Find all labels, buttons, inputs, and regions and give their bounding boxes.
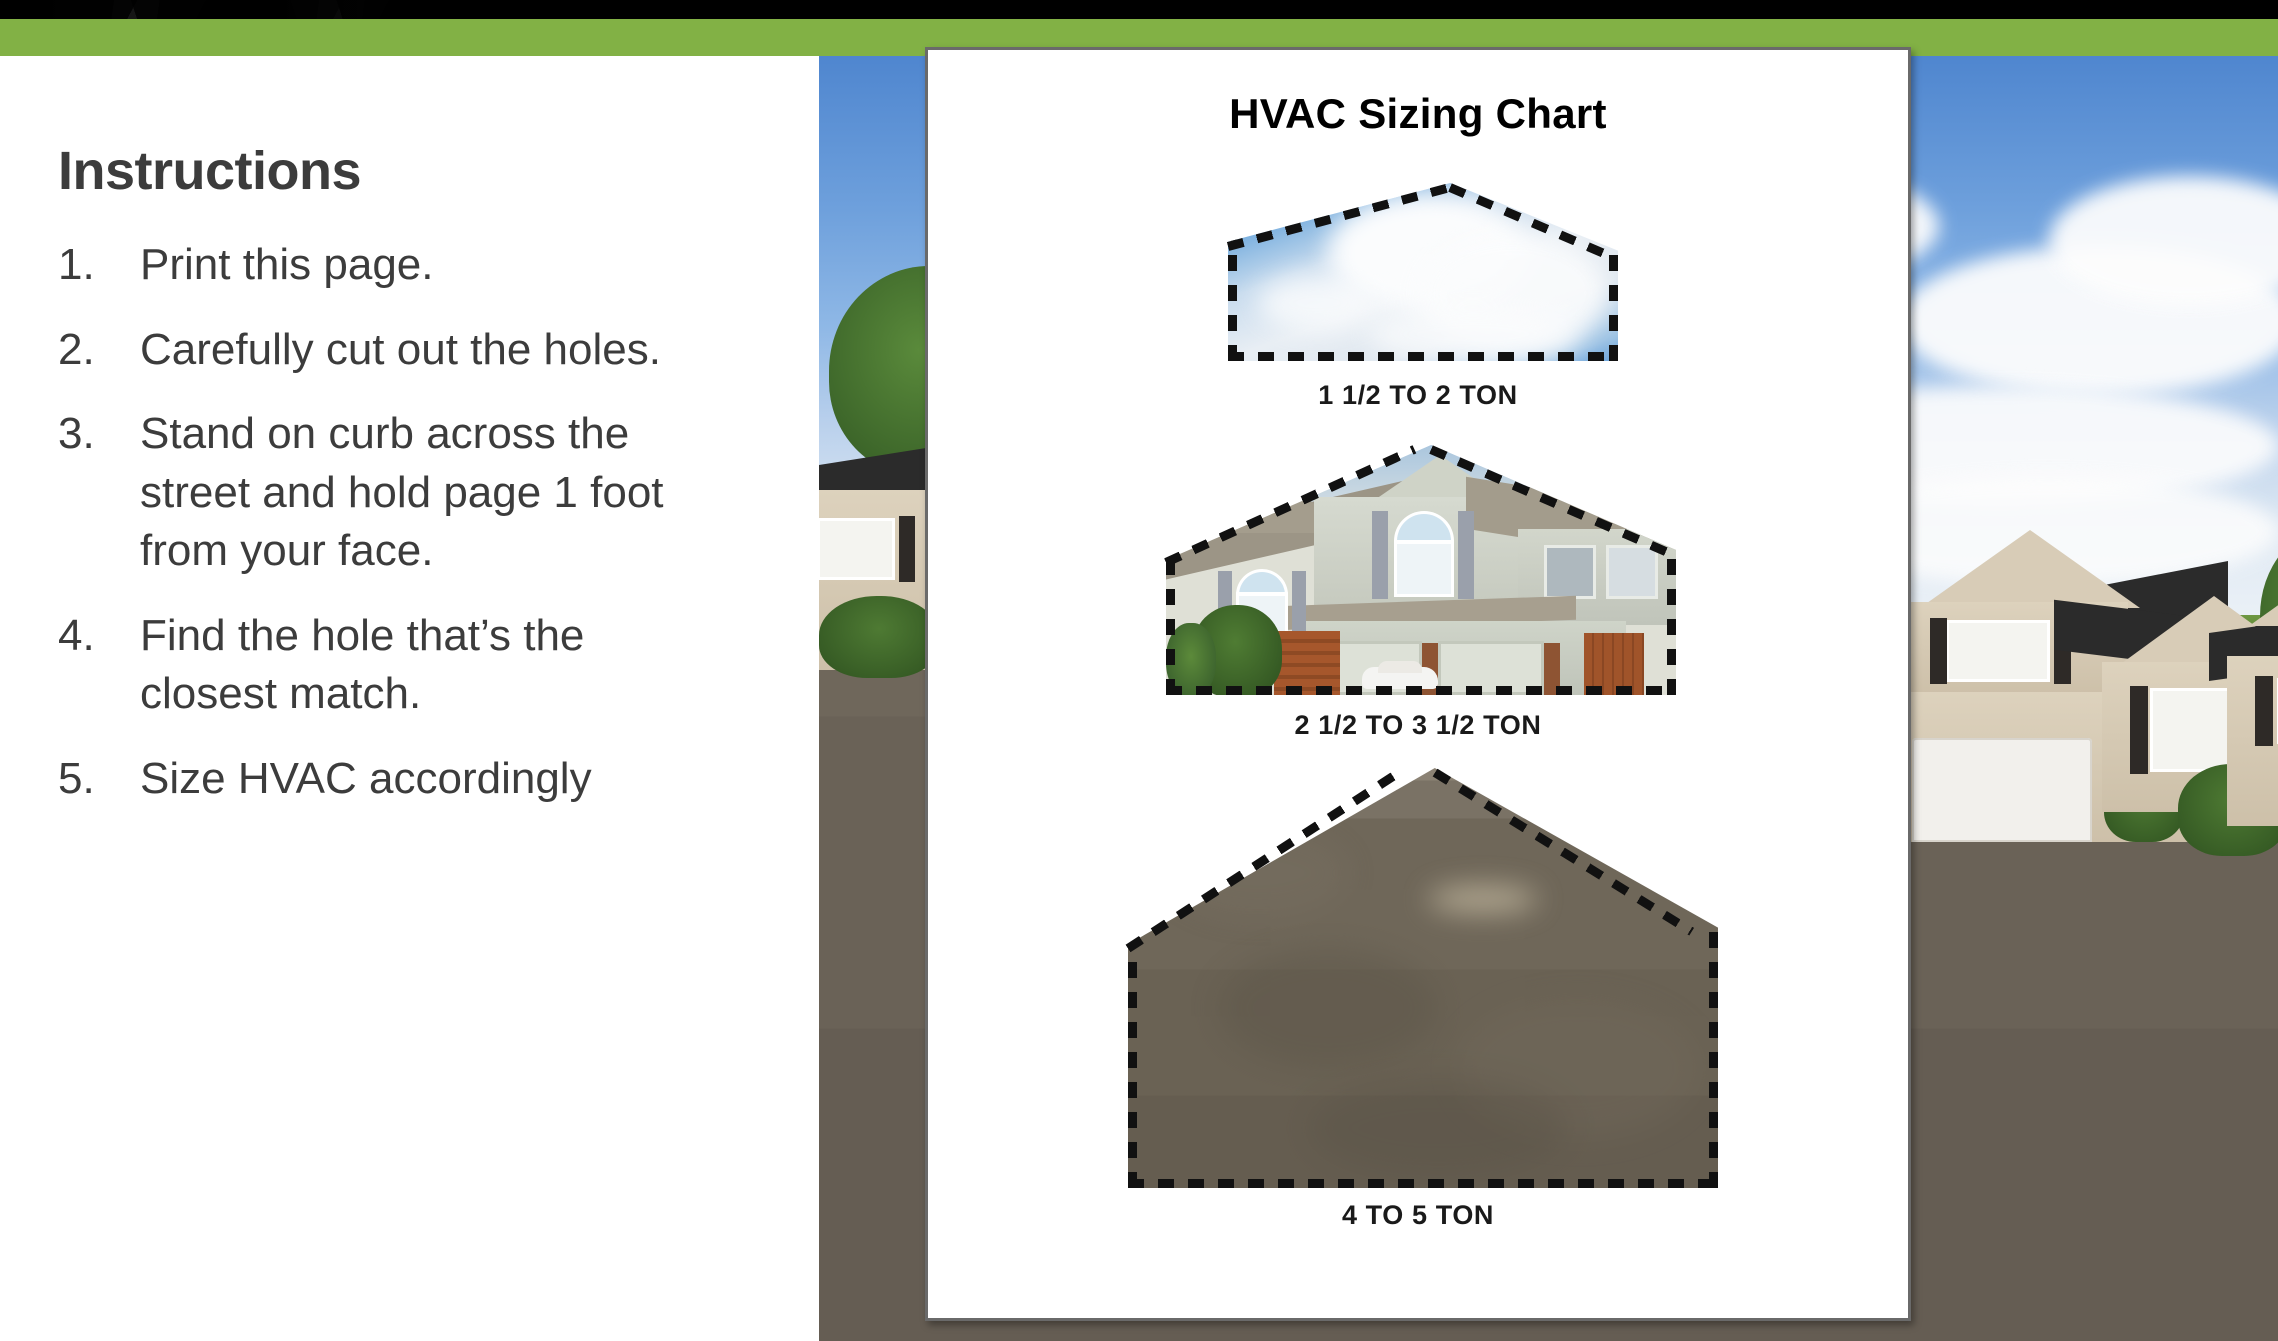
instruction-step-text: Find the hole that’s the closest match. [140,607,700,724]
hole-3-label: 4 TO 5 TON [928,1200,1908,1231]
hole-3-dashed-border [1128,768,1718,1188]
hole-1-dashed-border [1228,183,1618,361]
hole-2-dashed-border [1166,445,1676,695]
chart-title: HVAC Sizing Chart [928,90,1908,138]
instructions-block: Instructions 1.Print this page.2.Careful… [58,140,778,834]
hole-2-label: 2 1/2 TO 3 1/2 TON [928,710,1908,741]
hole-1-label: 1 1/2 TO 2 TON [928,380,1908,411]
photo-house-right-c [2219,556,2278,856]
instruction-step: 1.Print this page. [58,236,778,295]
instruction-step: 3.Stand on curb across the street and ho… [58,405,778,581]
instruction-step-number: 2. [58,321,140,380]
instruction-step-number: 4. [58,607,140,666]
instruction-step-text: Size HVAC accordingly [140,750,700,809]
instruction-step-number: 1. [58,236,140,295]
instruction-step-text: Print this page. [140,236,700,295]
instruction-step: 4.Find the hole that’s the closest match… [58,607,778,724]
instruction-step: 2.Carefully cut out the holes. [58,321,778,380]
hvac-chart-panel: HVAC Sizing Chart 1 1/2 TO 2 TON [925,47,1911,1321]
instructions-heading: Instructions [58,140,778,202]
instruction-step-text: Carefully cut out the holes. [140,321,700,380]
top-texture-strip [0,0,2278,19]
cutout-hole-1 [1228,183,1618,361]
instructions-list: 1.Print this page.2.Carefully cut out th… [58,236,778,808]
instruction-step-text: Stand on curb across the street and hold… [140,405,700,581]
instruction-step-number: 5. [58,750,140,809]
instruction-step: 5.Size HVAC accordingly [58,750,778,809]
cutout-hole-2 [1166,445,1676,695]
cutout-hole-3 [1128,768,1718,1188]
instruction-step-number: 3. [58,405,140,464]
slide-canvas: HVAC Sizing Chart 1 1/2 TO 2 TON [0,0,2278,1341]
